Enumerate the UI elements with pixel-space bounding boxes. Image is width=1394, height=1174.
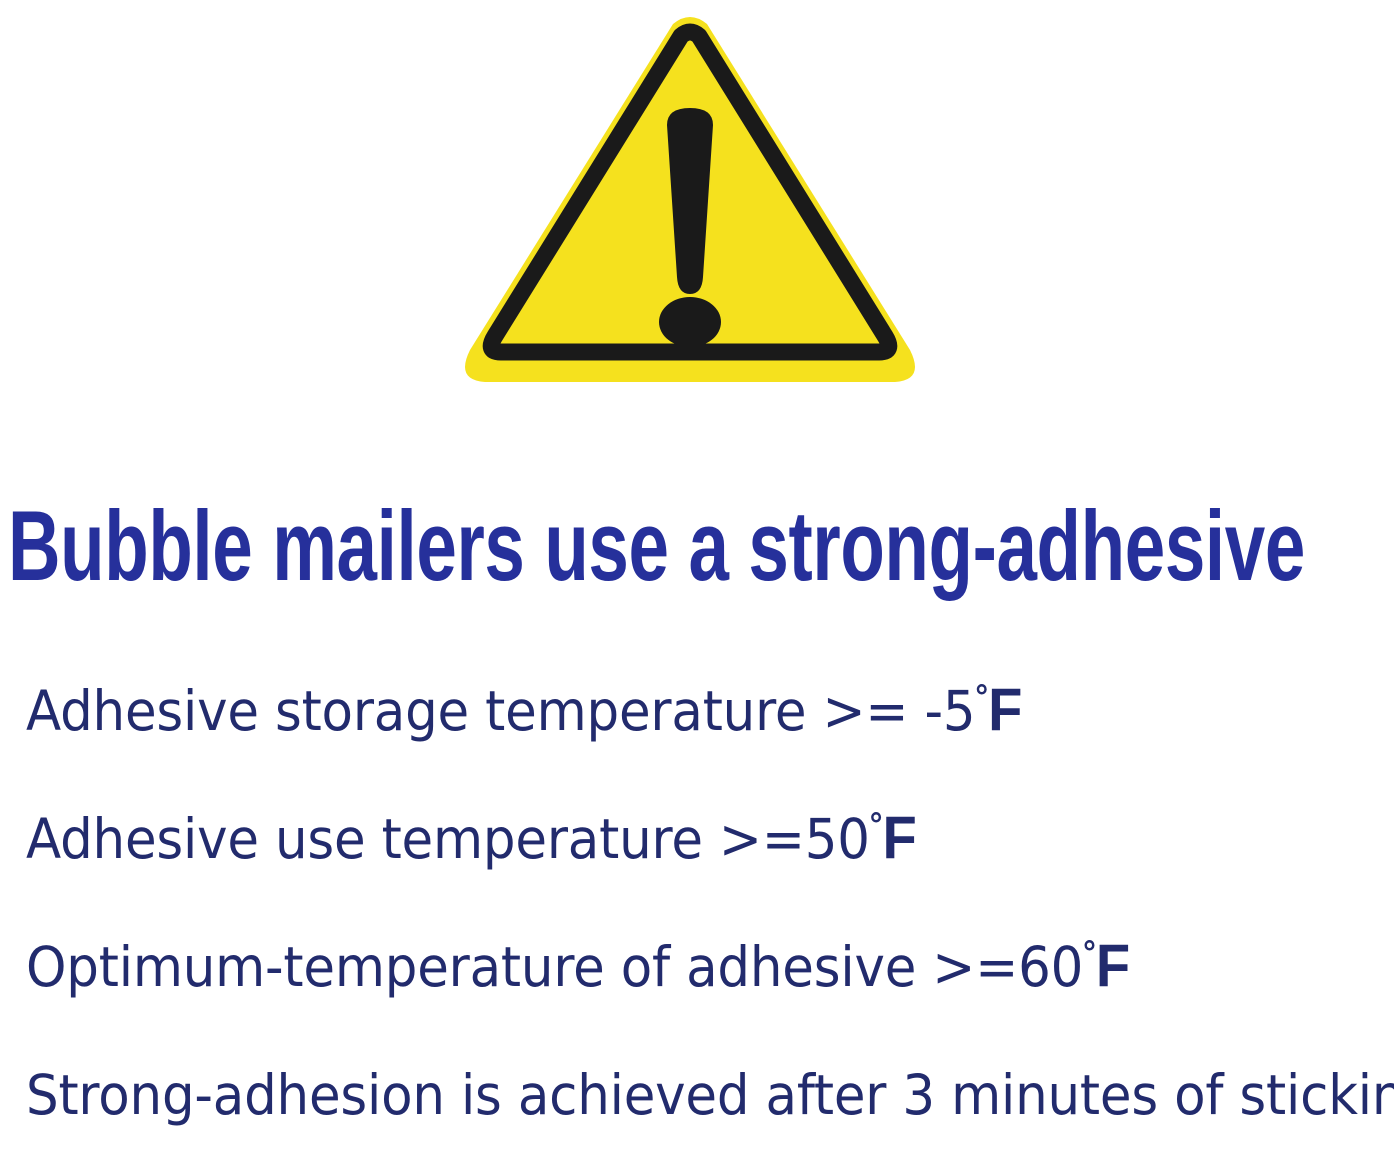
spec-line-text: Adhesive storage temperature >= -5 bbox=[26, 679, 975, 743]
degree-symbol: ° bbox=[1083, 934, 1096, 972]
degree-symbol: ° bbox=[975, 678, 988, 716]
spec-line-text: Optimum-temperature of adhesive >=60 bbox=[26, 935, 1083, 999]
temperature-unit: F bbox=[883, 804, 917, 871]
temperature-unit: F bbox=[1096, 932, 1130, 999]
spec-line-optimum-temperature: Optimum-temperature of adhesive >=60°F bbox=[26, 918, 1298, 1046]
exclamation-dot bbox=[659, 297, 721, 347]
spec-line-storage-temperature: Adhesive storage temperature >= -5°F bbox=[26, 662, 1298, 790]
spec-line-text: Adhesive use temperature >=50 bbox=[26, 807, 870, 871]
page-title: Bubble mailers use a strong-adhesive bbox=[8, 496, 1022, 600]
spec-line-text: Strong-adhesion is achieved after 3 minu… bbox=[26, 1063, 1394, 1127]
degree-symbol: ° bbox=[870, 806, 883, 844]
spec-list: Adhesive storage temperature >= -5°F Adh… bbox=[26, 662, 1386, 1174]
spec-line-use-temperature: Adhesive use temperature >=50°F bbox=[26, 790, 1298, 918]
product-infographic-page: Bubble mailers use a strong-adhesive Adh… bbox=[0, 0, 1394, 1136]
warning-triangle-exclamation-icon bbox=[455, 2, 925, 397]
temperature-unit: F bbox=[988, 676, 1022, 743]
spec-line-adhesion-time: Strong-adhesion is achieved after 3 minu… bbox=[26, 1046, 1298, 1174]
